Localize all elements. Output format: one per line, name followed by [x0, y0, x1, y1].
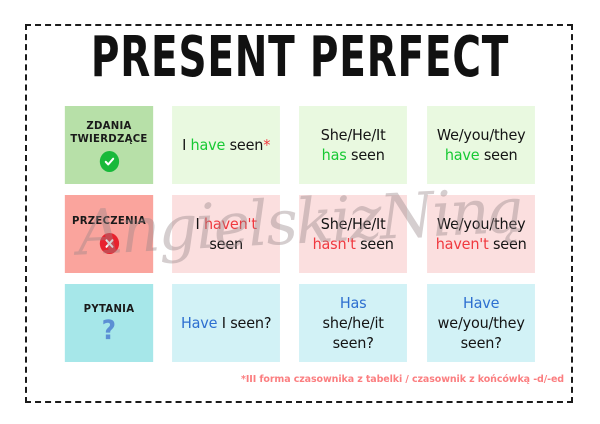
row-label-cell: PYTANIA?	[65, 284, 153, 362]
sentence-line: seen?	[333, 333, 374, 353]
sentence-line: haven't seen	[435, 234, 526, 254]
sentence-text: seen?	[333, 334, 374, 352]
row-label-cell: ZDANIATWIERDZĄCE	[65, 106, 153, 184]
sentence-cell: She/He/Ithas seen	[299, 106, 407, 184]
sentence-line: Have I seen?	[181, 313, 271, 333]
sentence-line: have seen	[444, 145, 517, 165]
sentence-line: we/you/they	[437, 313, 524, 333]
cross-circle-icon	[99, 233, 118, 254]
sentence-text: We/you/they	[437, 126, 526, 144]
sentence-text: seen	[209, 235, 243, 253]
sentence-text: seen?	[460, 334, 501, 352]
sentence-line: seen?	[460, 333, 501, 353]
highlighted-word: has	[322, 146, 347, 164]
row-label-cell: PRZECZENIA	[65, 195, 153, 273]
sentence-line: We/you/they	[437, 125, 526, 145]
sentence-text: We/you/they	[437, 215, 526, 233]
highlighted-word: *	[263, 136, 270, 154]
sentence-line: hasn't seen	[313, 234, 394, 254]
sentence-text: I seen?	[217, 314, 271, 332]
sentence-line: Have	[463, 293, 499, 313]
row-label-text: TWIERDZĄCE	[70, 132, 147, 145]
highlighted-word: have	[444, 146, 479, 164]
sentence-text: seen	[488, 235, 526, 253]
sentence-cell: Havewe/you/theyseen?	[427, 284, 535, 362]
sentence-text: seen	[347, 146, 385, 164]
sentence-line: She/He/It	[321, 125, 386, 145]
sentence-text: She/He/It	[321, 126, 386, 144]
highlighted-word: haven't	[435, 235, 488, 253]
sentence-cell: Hasshe/he/itseen?	[299, 284, 407, 362]
sentence-line: has seen	[322, 145, 385, 165]
tense-table: ZDANIATWIERDZĄCEI have seen*She/He/Ithas…	[61, 106, 539, 362]
highlighted-word: have	[191, 136, 226, 154]
check-circle-icon	[99, 151, 118, 172]
highlighted-word: Has	[340, 294, 367, 312]
sentence-cell: I haven'tseen	[172, 195, 280, 273]
sentence-text: seen	[356, 235, 394, 253]
highlighted-word: hasn't	[313, 235, 356, 253]
sentence-text: seen	[479, 146, 517, 164]
sentence-cell: I have seen*	[172, 106, 280, 184]
row-label-text: ZDANIA	[86, 119, 131, 132]
sentence-text: She/He/It	[321, 215, 386, 233]
sentence-cell: She/He/Ithasn't seen	[299, 195, 407, 273]
sentence-line: She/He/It	[321, 214, 386, 234]
sentence-cell: Have I seen?	[172, 284, 280, 362]
sentence-line: she/he/it	[323, 313, 384, 333]
sentence-line: Has	[340, 293, 367, 313]
sentence-text: we/you/they	[437, 314, 524, 332]
sentence-line: I haven't	[196, 214, 257, 234]
page-title: PRESENT PERFECT	[66, 25, 534, 90]
highlighted-word: haven't	[204, 215, 257, 233]
highlighted-word: Have	[463, 294, 499, 312]
sentence-cell: We/you/theyhave seen	[427, 106, 535, 184]
question-mark-icon: ?	[102, 317, 117, 345]
sentence-text: I	[182, 136, 190, 154]
sentence-line: seen	[209, 234, 243, 254]
sentence-cell: We/you/theyhaven't seen	[427, 195, 535, 273]
sentence-text: she/he/it	[323, 314, 384, 332]
sentence-text: seen	[225, 136, 263, 154]
sentence-line: I have seen*	[182, 135, 270, 155]
row-label-text: PRZECZENIA	[72, 214, 146, 227]
highlighted-word: Have	[181, 314, 217, 332]
row-label-text: PYTANIA	[84, 302, 135, 315]
footnote: *III forma czasownika z tabelki / czasow…	[0, 374, 600, 386]
sentence-line: We/you/they	[437, 214, 526, 234]
